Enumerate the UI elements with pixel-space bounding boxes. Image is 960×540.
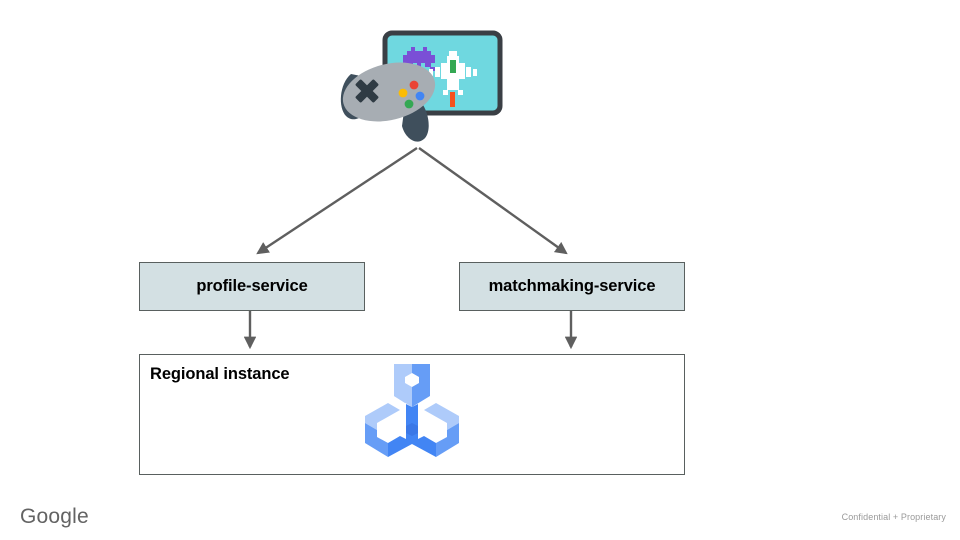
regional-instance-title: Regional instance (150, 366, 290, 383)
service-box-label: matchmaking-service (489, 278, 656, 295)
button-green (405, 100, 414, 109)
button-blue (416, 92, 425, 101)
slide-canvas: profile-service matchmaking-service Regi… (0, 0, 960, 540)
service-box-matchmaking-service[interactable]: matchmaking-service (459, 262, 685, 311)
spanner-right-arm-upper (424, 403, 459, 430)
confidentiality-note: Confidential + Proprietary (842, 513, 946, 522)
button-red (410, 81, 419, 90)
service-box-profile-service[interactable]: profile-service (139, 262, 365, 311)
game-controller-and-screen-illustration (337, 30, 503, 148)
button-yellow (399, 89, 408, 98)
service-box-label: profile-service (196, 278, 307, 295)
rocket-thruster (450, 92, 455, 107)
cloud-spanner-icon (353, 364, 471, 468)
connector-client-to-profile-service (258, 148, 417, 253)
connector-client-to-matchmaking-service (419, 148, 566, 253)
spanner-left-arm-upper (365, 403, 400, 430)
spanner-top-right-face (412, 364, 430, 407)
regional-instance-container[interactable]: Regional instance (139, 354, 685, 475)
rocket-window (450, 60, 456, 73)
google-wordmark: Google (20, 506, 89, 527)
